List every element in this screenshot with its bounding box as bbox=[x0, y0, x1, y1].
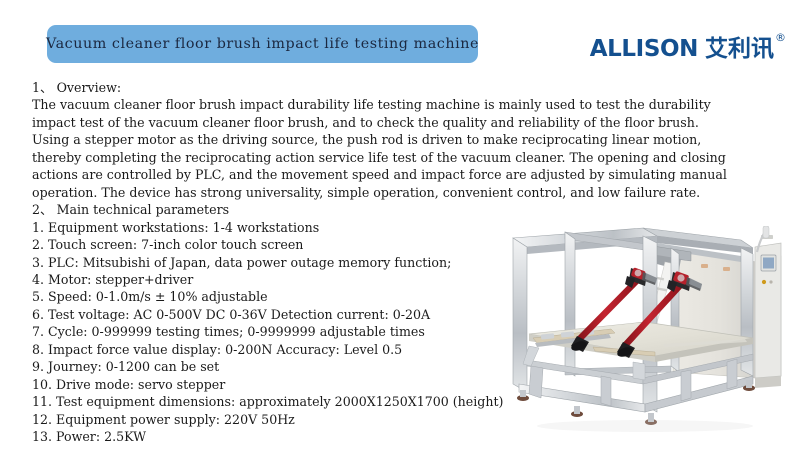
page-title: Vacuum cleaner floor brush impact life t… bbox=[46, 37, 479, 51]
brand-logo: ALLISON 艾利讯 ® bbox=[590, 36, 786, 66]
emergency-stop-button-icon bbox=[762, 280, 766, 284]
overview-line: actions are controlled by PLC, and the m… bbox=[32, 166, 788, 183]
page-header: Vacuum cleaner floor brush impact life t… bbox=[0, 0, 800, 76]
overview-line: The vacuum cleaner floor brush impact du… bbox=[32, 96, 788, 113]
product-spec-page: Vacuum cleaner floor brush impact life t… bbox=[0, 0, 800, 450]
brand-logo-cjk-text: 艾利讯 bbox=[705, 36, 774, 62]
overview-heading: 1、 Overview: bbox=[32, 79, 788, 96]
brand-logo-latin-text: ALLISON bbox=[590, 36, 698, 62]
machine-photo bbox=[505, 226, 800, 450]
parameters-heading: 2、 Main technical parameters bbox=[32, 201, 788, 218]
registered-trademark-icon: ® bbox=[775, 32, 786, 43]
overview-line: impact test of the vacuum cleaner floor … bbox=[32, 114, 788, 131]
overview-line: operation. The device has strong univers… bbox=[32, 184, 788, 201]
title-banner: Vacuum cleaner floor brush impact life t… bbox=[47, 25, 478, 63]
overview-line: thereby completing the reciprocating act… bbox=[32, 149, 788, 166]
overview-line: Using a stepper motor as the driving sou… bbox=[32, 131, 788, 148]
